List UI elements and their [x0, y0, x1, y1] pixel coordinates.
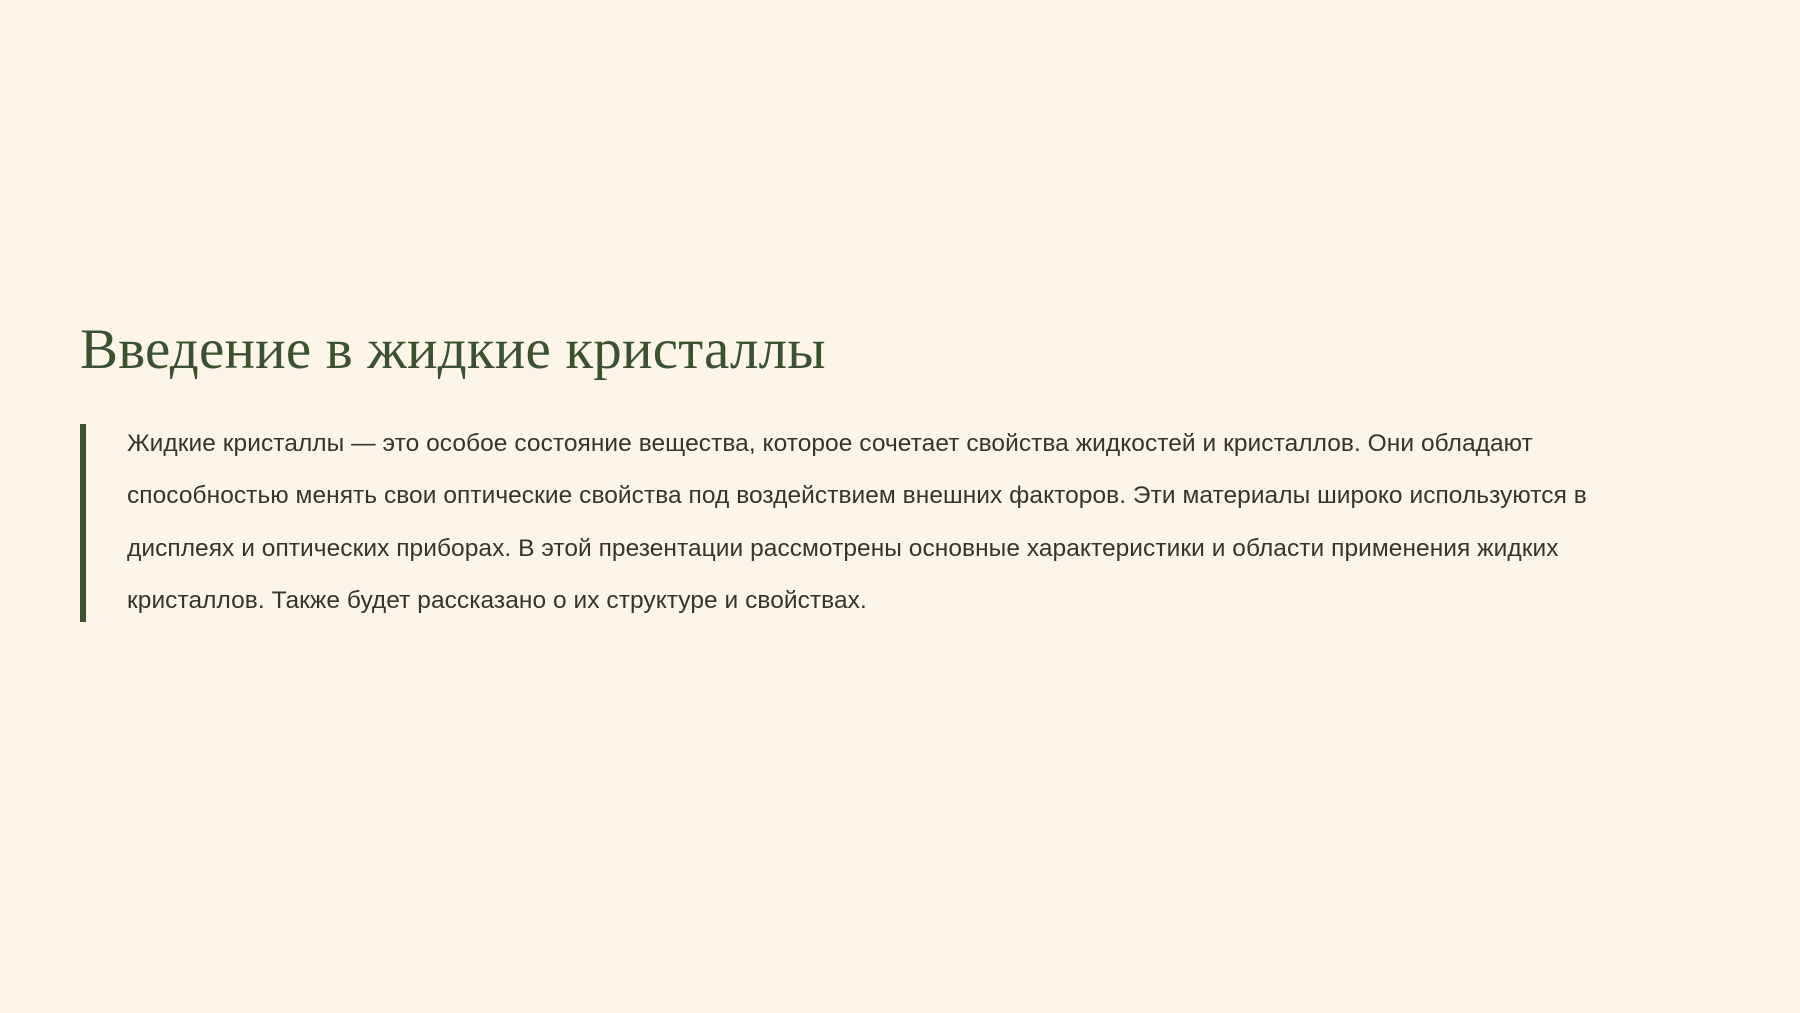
- slide-content: Введение в жидкие кристаллы Жидкие крист…: [80, 318, 1730, 628]
- presentation-slide: Введение в жидкие кристаллы Жидкие крист…: [0, 0, 1800, 1013]
- page-title: Введение в жидкие кристаллы: [80, 318, 1730, 382]
- left-accent-bar: [80, 424, 86, 622]
- body-paragraph: Жидкие кристаллы — это особое состояние …: [127, 418, 1682, 628]
- body-quote-block: Жидкие кристаллы — это особое состояние …: [80, 418, 1730, 628]
